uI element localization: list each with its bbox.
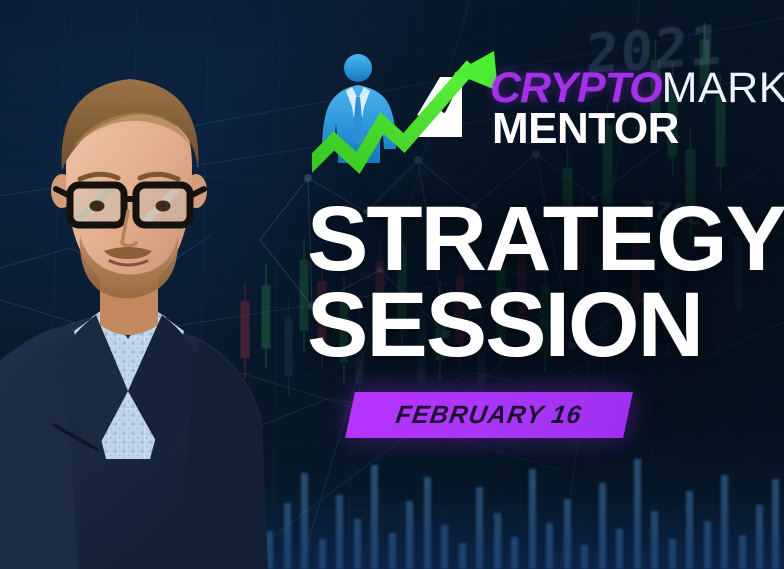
brand-wordmark: CRYPTOMARKET MENTOR [490,67,780,175]
headline-block: STRATEGY SESSION [307,196,777,368]
brand-logo-lockup: CRYPTOMARKET MENTOR [312,45,780,175]
headline-line-2: SESSION [307,282,777,368]
promo-graphic: 2021 2021 [0,0,784,569]
date-banner: FEBRUARY 16 [345,392,633,438]
headline-line-1: STRATEGY [307,196,777,282]
presenter-photo [0,39,270,569]
wordmark-market: MARKET [662,64,784,112]
wordmark-mentor: MENTOR [492,107,679,151]
date-banner-label: FEBRUARY 16 [394,401,585,430]
presenter-portrait-illustration [0,39,270,569]
businessman-growth-arrow-icon [312,45,502,175]
